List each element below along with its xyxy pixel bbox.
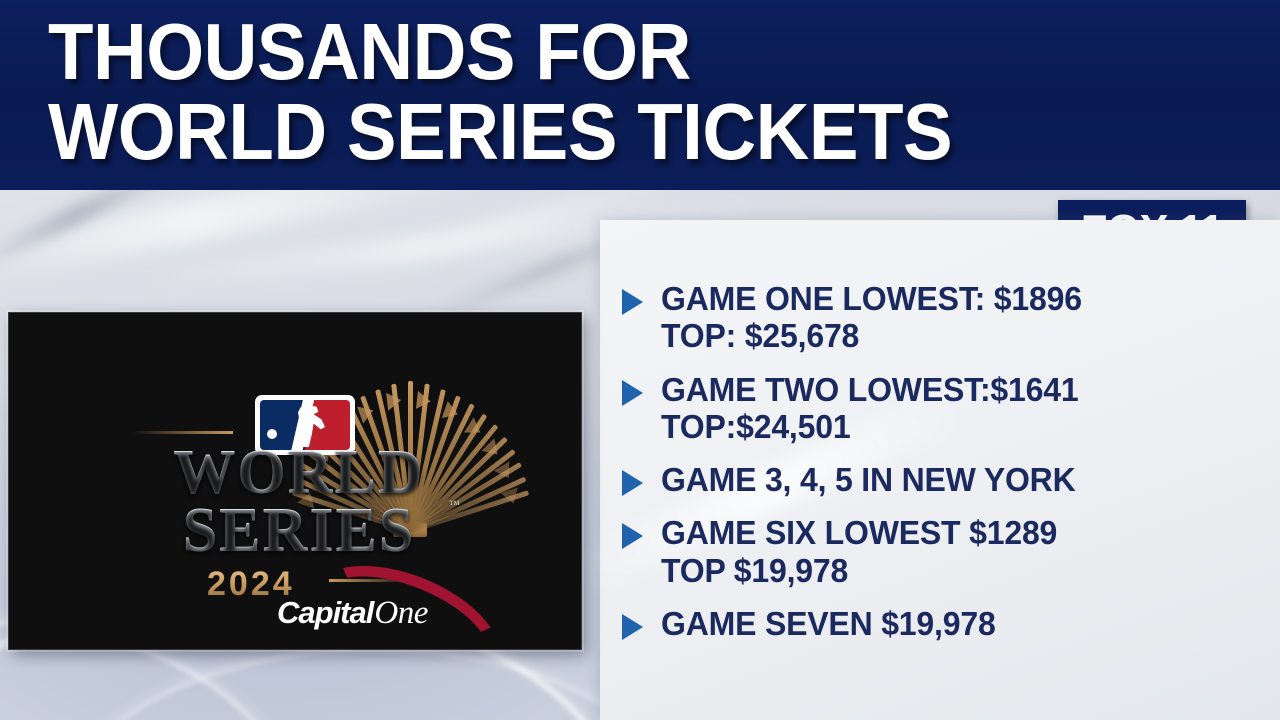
sponsor-wordmark-part2: One [374,595,427,631]
list-item-text: GAME 3, 4, 5 IN NEW YORK [661,461,1076,498]
logo-rule [133,431,233,434]
list-item: GAME TWO LOWEST:$1641 TOP:$24,501 [622,371,1262,446]
world-series-word-top: WORLD [129,441,469,503]
triangle-bullet-icon [622,380,643,406]
list-item-text: GAME SIX LOWEST $1289 TOP $19,978 [661,514,1057,589]
news-graphic-screen: THOUSANDS FOR WORLD SERIES TICKETS FOX 1… [0,0,1280,720]
headline-line-2: WORLD SERIES TICKETS [48,92,952,172]
list-item-line-1: GAME SIX LOWEST $1289 [661,514,1057,551]
trademark-symbol: ™ [449,499,460,511]
list-item-line-2: TOP:$24,501 [661,408,1078,445]
list-item-line-1: GAME ONE LOWEST: $1896 [661,280,1082,317]
list-item-text: GAME TWO LOWEST:$1641 TOP:$24,501 [661,371,1078,446]
list-item-line-1: GAME 3, 4, 5 IN NEW YORK [661,461,1076,498]
list-item-line-1: GAME TWO LOWEST:$1641 [661,371,1078,408]
world-series-logo-board: WORLD SERIES ™ 2024 CapitalOne [8,312,582,650]
list-item: GAME SEVEN $19,978 [622,605,1262,642]
list-item-line-1: GAME SEVEN $19,978 [661,605,996,642]
list-item-line-2: TOP $19,978 [661,552,1057,589]
triangle-bullet-icon [622,614,643,640]
headline-banner: THOUSANDS FOR WORLD SERIES TICKETS [0,0,1280,190]
triangle-bullet-icon [622,289,643,315]
world-series-word-bottom: SERIES [129,499,469,561]
ticket-price-list: GAME ONE LOWEST: $1896 TOP: $25,678 GAME… [622,280,1262,658]
list-item: GAME 3, 4, 5 IN NEW YORK [622,461,1262,498]
list-item-text: GAME ONE LOWEST: $1896 TOP: $25,678 [661,280,1082,355]
list-item-line-2: TOP: $25,678 [661,317,1082,354]
sponsor-wordmark-part1: Capital [277,595,373,630]
triangle-bullet-icon [622,523,643,549]
list-item: GAME ONE LOWEST: $1896 TOP: $25,678 [622,280,1262,355]
headline-line-1: THOUSANDS FOR [48,12,691,92]
list-item: GAME SIX LOWEST $1289 TOP $19,978 [622,514,1262,589]
list-item-text: GAME SEVEN $19,978 [661,605,996,642]
sponsor-wordmark: CapitalOne [277,597,428,630]
triangle-bullet-icon [622,470,643,496]
ticket-price-panel: GAME ONE LOWEST: $1896 TOP: $25,678 GAME… [600,220,1280,720]
